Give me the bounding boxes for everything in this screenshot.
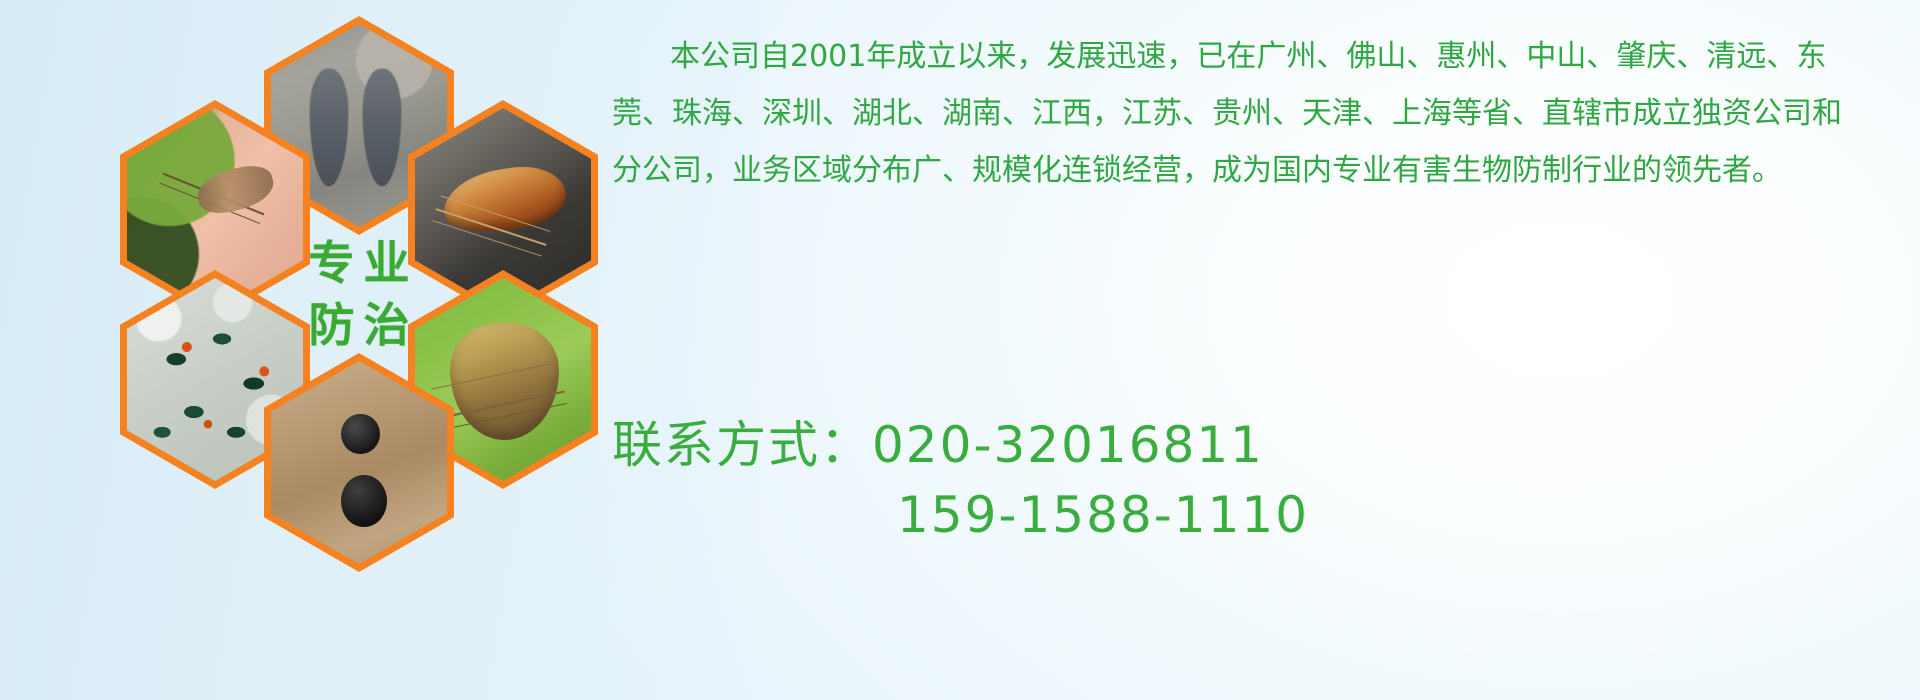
contact-block: 联系方式：020-32016811 159-1588-1110 — [612, 410, 1872, 550]
content-column: 本公司自2001年成立以来，发展迅速，已在广州、佛山、惠州、中山、肇庆、清远、东… — [612, 28, 1872, 199]
about-paragraph: 本公司自2001年成立以来，发展迅速，已在广州、佛山、惠州、中山、肇庆、清远、东… — [612, 28, 1862, 199]
contact-phone-primary[interactable]: 联系方式：020-32016811 — [612, 410, 1872, 480]
promo-banner: 专业 防治 本公司自2001年成立以来，发展迅速，已在广州、佛山、惠州、中山、肇… — [0, 0, 1920, 700]
logo-slogan: 专业 防治 — [264, 184, 454, 403]
contact-phone-secondary[interactable]: 159-1588-1110 — [612, 480, 1872, 550]
logo-slogan-line2: 防治 — [300, 302, 419, 348]
logo-slogan-line1: 专业 — [300, 240, 419, 286]
honeycomb-collage: 专业 防治 — [96, 8, 596, 568]
